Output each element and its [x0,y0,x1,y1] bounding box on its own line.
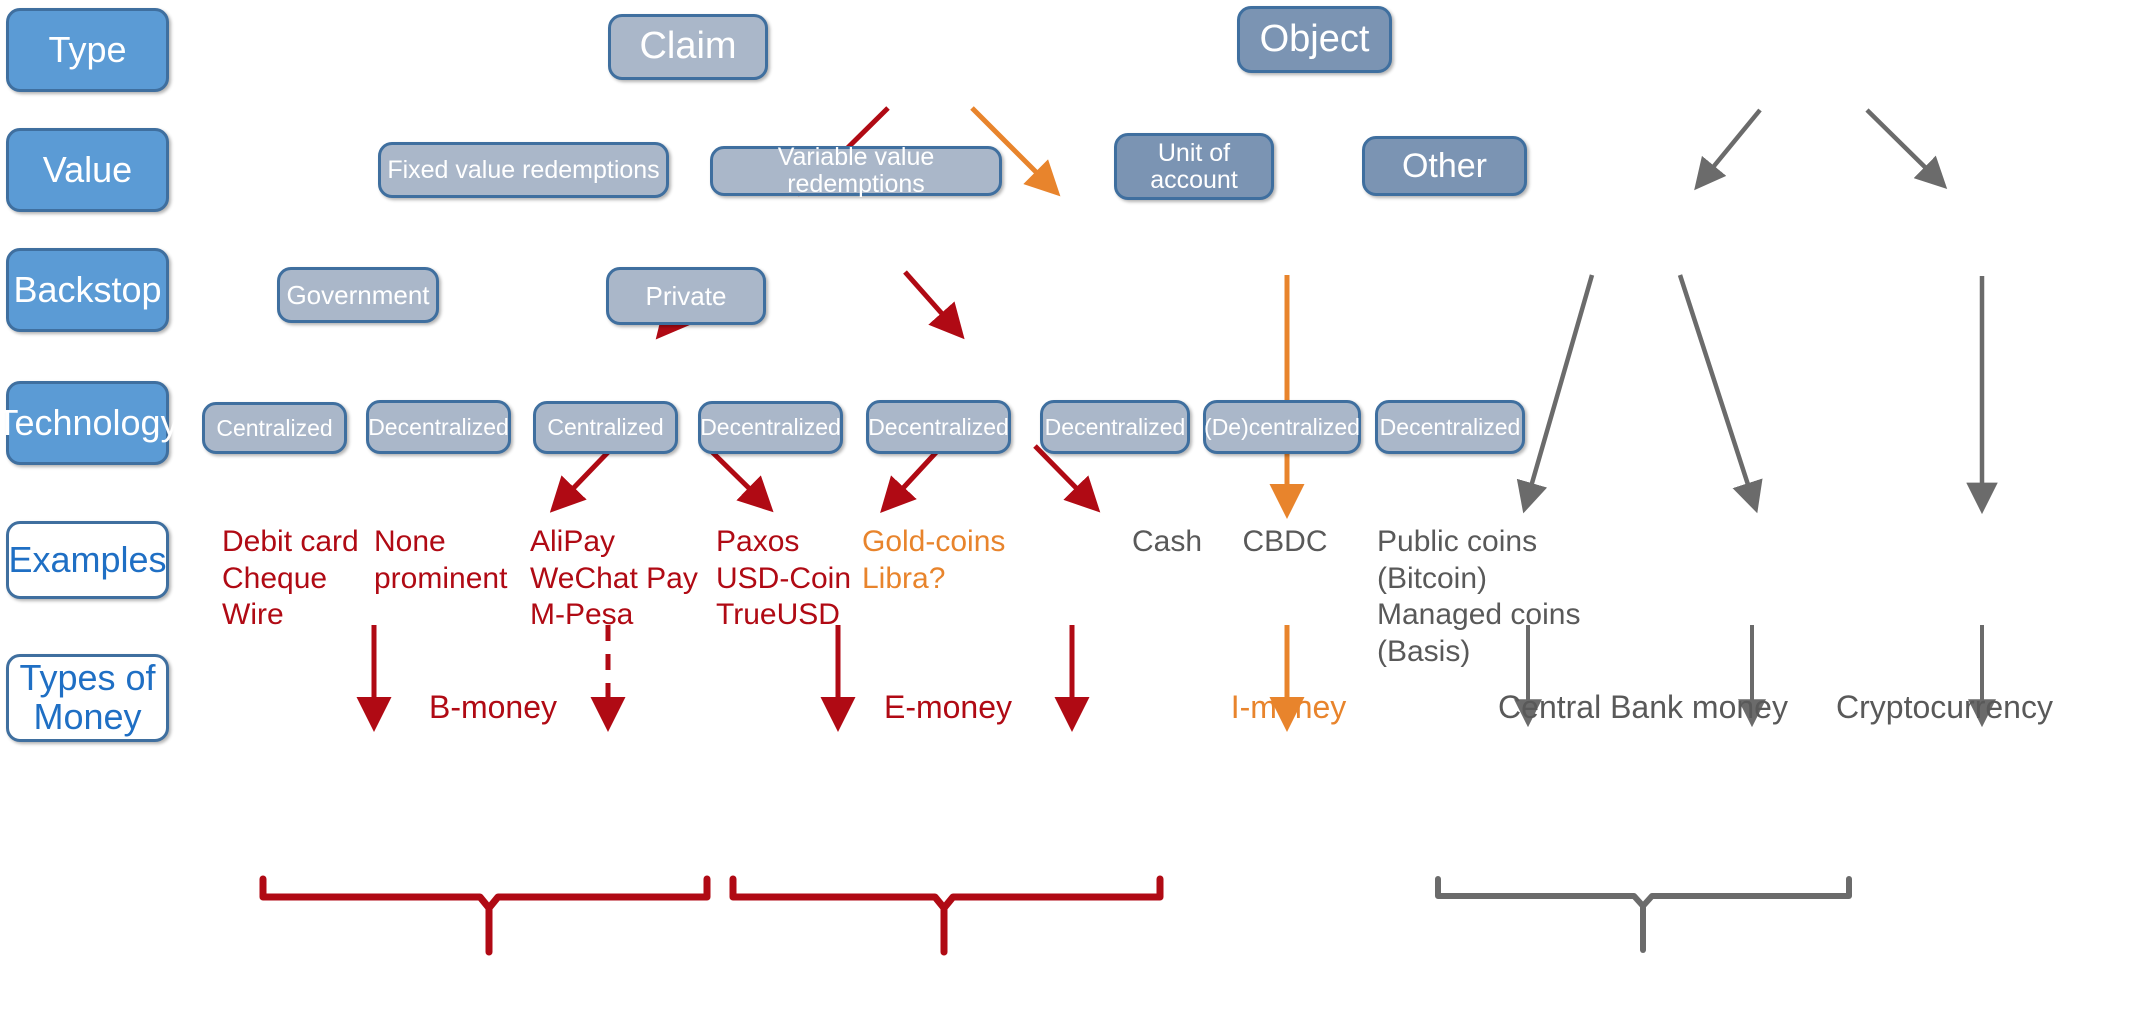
money-type-i-money: I-money [1196,688,1381,727]
node-claim[interactable]: Claim [608,14,768,80]
examples-cbdc: CBDC [1205,524,1365,561]
node-tech-decentralized-government-label: Decentralized [368,415,509,440]
node-variable-value-redemptions-label: Variable value redemptions [713,144,999,198]
money-type-b-money: B-money [388,688,598,727]
row-label-value-text: Value [43,151,132,190]
row-label-value: Value [6,128,169,212]
node-fixed-value-redemptions-label: Fixed value redemptions [387,157,659,184]
row-label-type: Type [6,8,169,92]
node-tech-centralized-private[interactable]: Centralized [533,401,678,454]
money-type-e-money: E-money [843,688,1053,727]
money-taxonomy-diagram: Type Value Backstop Technology Examples … [0,0,2145,1033]
row-label-technology: Technology [6,381,169,465]
row-label-type-text: Type [48,31,126,70]
node-tech-decentralized-variable[interactable]: Decentralized [866,400,1011,454]
node-tech-decentralized-government[interactable]: Decentralized [366,400,511,454]
node-unit-of-account[interactable]: Unit of account [1114,133,1274,200]
object-branch-arrows [1528,110,1982,497]
node-tech-de-centralized-cbdc-label: (De)centralized [1204,415,1360,440]
node-variable-value-redemptions[interactable]: Variable value redemptions [710,146,1002,196]
node-fixed-value-redemptions[interactable]: Fixed value redemptions [378,142,669,198]
node-tech-decentralized-other-label: Decentralized [1380,415,1521,440]
node-tech-decentralized-variable-label: Decentralized [868,415,1009,440]
examples-other-coins: Public coins (Bitcoin) Managed coins (Ba… [1377,524,1607,670]
node-object[interactable]: Object [1237,6,1392,73]
brace-central-bank-money [1438,879,1849,950]
node-tech-decentralized-private[interactable]: Decentralized [698,401,843,454]
node-private-label: Private [646,282,727,310]
node-tech-centralized-private-label: Centralized [547,415,663,440]
examples-private-centralized: AliPay WeChat Pay M-Pesa [530,524,715,634]
node-other[interactable]: Other [1362,136,1527,196]
row-label-types-of-money-text: Types of Money [19,659,155,737]
row-label-technology-text: Technology [0,404,179,443]
node-tech-decentralized-private-label: Decentralized [700,415,841,440]
examples-government-decentralized: None prominent [374,524,549,597]
money-type-central-bank-money: Central Bank money [1478,688,1808,727]
row-label-backstop: Backstop [6,248,169,332]
node-tech-decentralized-other[interactable]: Decentralized [1375,400,1525,454]
node-government-label: Government [286,281,429,309]
node-object-label: Object [1260,19,1370,60]
node-tech-centralized-government-label: Centralized [216,416,332,441]
row-label-backstop-text: Backstop [13,271,161,310]
row-label-examples-text: Examples [8,541,166,580]
node-other-label: Other [1402,148,1487,185]
brace-b-money [263,879,707,952]
connectors-layer [0,0,2145,1033]
node-private[interactable]: Private [606,267,766,325]
brace-e-money [733,879,1160,952]
examples-variable-value: Gold-coins Libra? [862,524,1042,597]
row-label-examples: Examples [6,521,169,599]
node-tech-decentralized-unit-of-account[interactable]: Decentralized [1040,400,1190,454]
money-type-cryptocurrency: Cryptocurrency [1836,688,2106,727]
row-label-types-of-money: Types of Money [6,654,169,742]
node-tech-decentralized-unit-of-account-label: Decentralized [1045,415,1186,440]
node-tech-centralized-government[interactable]: Centralized [202,402,347,454]
node-claim-label: Claim [639,26,736,67]
node-government[interactable]: Government [277,267,439,323]
node-unit-of-account-label: Unit of account [1150,140,1238,194]
node-tech-de-centralized-cbdc[interactable]: (De)centralized [1203,400,1361,454]
